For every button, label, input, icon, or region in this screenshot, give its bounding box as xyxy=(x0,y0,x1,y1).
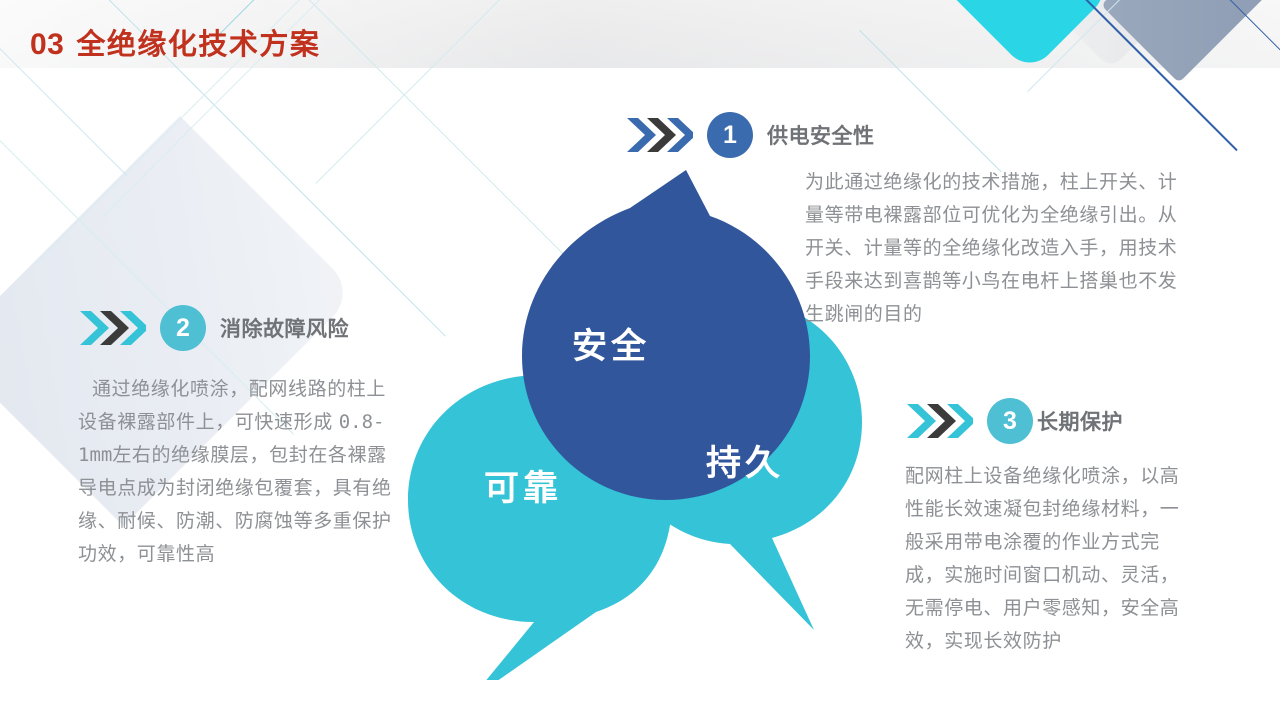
feature-1-body: 为此通过绝缘化的技术措施，柱上开关、计量等带电裸露部位可优化为全绝缘引出。从开关… xyxy=(805,166,1190,331)
chevron-triple-icon xyxy=(78,307,146,349)
corner-cyan-shape xyxy=(931,0,1113,73)
feature-2-body: 通过绝缘化喷涂，配网线路的柱上设备裸露部件上，可快速形成 0.8-1mm左右的绝… xyxy=(78,373,398,571)
feature-item-3: 3 长期保护 配网柱上设备绝缘化喷涂，以高性能长效速凝包封绝缘材料，一般采用带电… xyxy=(905,398,1195,658)
corner-gray-blue-shape xyxy=(1101,0,1280,83)
feature-item-1: 1 供电安全性 为此通过绝缘化的技术措施，柱上开关、计量等带电裸露部位可优化为全… xyxy=(625,112,1020,331)
feature-item-2: 2 消除故障风险 通过绝缘化喷涂，配网线路的柱上设备裸露部件上，可快速形成 0.… xyxy=(78,305,408,571)
slide-title-text: 全绝缘化技术方案 xyxy=(76,21,320,63)
slide-canvas: 03 全绝缘化技术方案 安全 可靠 持久 xyxy=(0,0,1280,720)
feature-3-body: 配网柱上设备绝缘化喷涂，以高性能长效速凝包封绝缘材料，一般采用带电涂覆的作业方式… xyxy=(905,460,1180,658)
feature-3-header: 3 长期保护 xyxy=(905,398,1195,444)
slide-title: 03 全绝缘化技术方案 xyxy=(30,21,320,63)
feature-2-title: 消除故障风险 xyxy=(220,313,349,343)
bubble-label-durable: 持久 xyxy=(706,435,784,486)
diagonal-line xyxy=(0,48,127,176)
feature-3-title: 长期保护 xyxy=(1037,406,1123,436)
feature-2-body-post: 左右的绝缘膜层，包封在各裸露导电点成为封闭绝缘包覆套，具有绝缘、耐候、防潮、防腐… xyxy=(78,445,392,565)
feature-1-badge: 1 xyxy=(707,112,753,158)
bubble-label-reliable: 可靠 xyxy=(484,460,562,511)
slide-title-number: 03 xyxy=(30,28,64,62)
chevron-triple-icon xyxy=(625,114,693,156)
feature-2-header: 2 消除故障风险 xyxy=(78,305,408,351)
diagonal-line xyxy=(1027,0,1240,92)
diagonal-line-accent xyxy=(1067,0,1238,151)
feature-3-badge: 3 xyxy=(987,398,1033,444)
feature-2-badge: 2 xyxy=(160,305,206,351)
diagonal-line xyxy=(315,0,620,184)
corner-gray-light-shape xyxy=(1005,0,1217,69)
diagonal-line-accent xyxy=(1224,0,1280,108)
feature-1-title: 供电安全性 xyxy=(767,120,875,150)
feature-1-header: 1 供电安全性 xyxy=(625,112,1020,158)
chevron-triple-icon xyxy=(905,400,973,442)
